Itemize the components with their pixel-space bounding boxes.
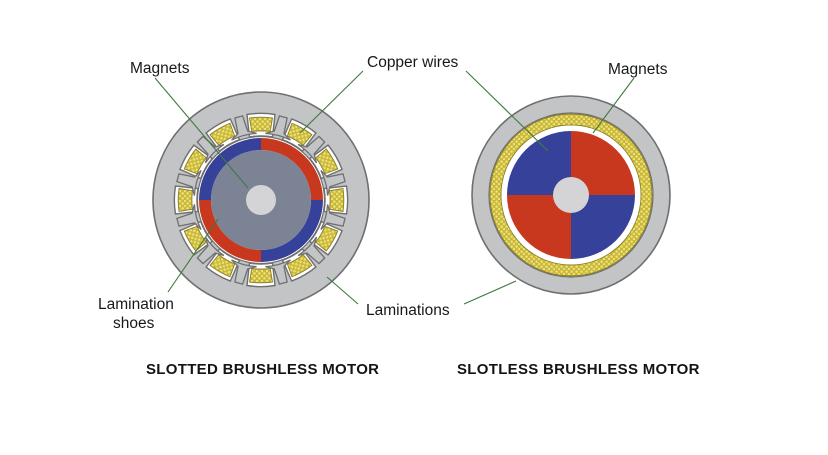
label-copper-wires: Copper wires [367,54,459,71]
left-shaft [246,185,276,215]
diagram-root: Magnets Copper wires Magnets Lamination … [0,0,828,455]
copper-winding [330,189,344,212]
label-laminations: Laminations [366,302,450,319]
label-magnets-left: Magnets [130,60,190,77]
captions: SLOTTED BRUSHLESS MOTOR SLOTLESS BRUSHLE… [146,361,700,378]
motor-comparison-figure: Magnets Copper wires Magnets Lamination … [0,0,828,455]
left-motor-slotted [153,92,369,308]
right-motor-slotless [472,96,670,294]
right-shaft [553,177,589,213]
caption-slotless-motor: SLOTLESS BRUSHLESS MOTOR [457,361,700,378]
label-lamination-shoes-line2: shoes [113,315,155,332]
leader-laminations-left [327,277,358,304]
copper-winding [178,189,192,212]
label-magnets-right: Magnets [608,61,668,78]
copper-winding [250,269,273,283]
label-lamination-shoes-line1: Lamination [98,296,174,313]
copper-winding [250,117,273,131]
leader-laminations-right [464,281,516,304]
caption-slotted-motor: SLOTTED BRUSHLESS MOTOR [146,361,379,378]
